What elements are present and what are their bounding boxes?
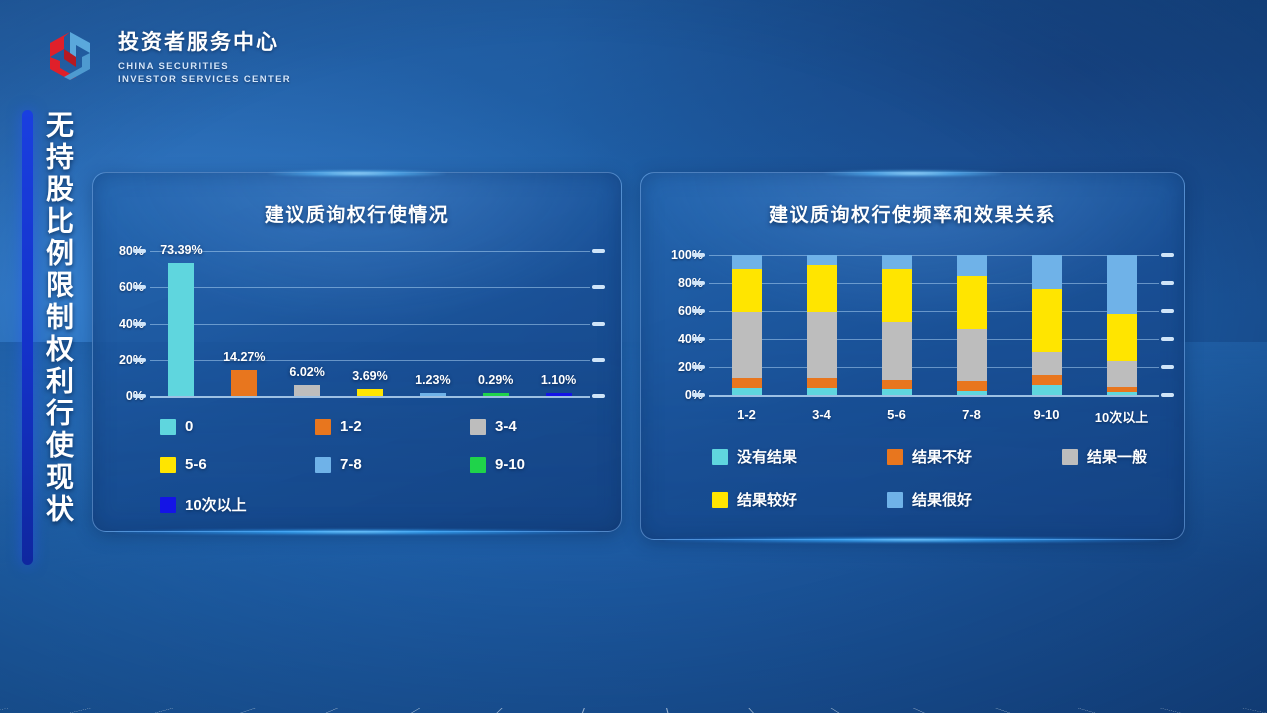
stacked-bar-segment	[1032, 289, 1062, 352]
gridline	[709, 283, 1159, 284]
left-chart-legend-item[interactable]: 5-6	[160, 456, 315, 473]
right-chart-legend-item[interactable]: 结果很好	[887, 489, 1062, 510]
panel-top-glow	[267, 170, 447, 177]
side-accent-bar	[22, 110, 33, 565]
brand-en-line-1: CHINA SECURITIES	[118, 60, 291, 73]
stacked-bar-segment	[1032, 375, 1062, 385]
left-chart-legend-item[interactable]: 1-2	[315, 418, 470, 435]
legend-item-label: 0	[185, 418, 193, 435]
chart-title-right: 建议质询权行使频率和效果关系	[641, 200, 1184, 227]
stacked-bar-segment	[882, 255, 912, 269]
left-chart-legend-item[interactable]: 9-10	[470, 456, 625, 473]
stacked-bar-segment	[882, 322, 912, 379]
chart-legend-right: 没有结果结果不好结果一般结果较好结果很好	[712, 446, 1237, 510]
gridline	[709, 339, 1159, 340]
stacked-bar-segment	[807, 312, 837, 378]
legend-color-swatch-icon	[470, 419, 486, 435]
legend-color-swatch-icon	[160, 419, 176, 435]
x-axis-tick-label: 9-10	[1033, 407, 1059, 422]
bar	[546, 393, 572, 397]
gridline	[150, 287, 590, 288]
legend-item-label: 结果很好	[912, 489, 972, 510]
stacked-bar-segment	[957, 329, 987, 381]
legend-color-swatch-icon	[160, 457, 176, 473]
right-chart-legend-item[interactable]: 结果较好	[712, 489, 887, 510]
bar	[483, 393, 509, 397]
legend-item-label: 10次以上	[185, 494, 247, 515]
stacked-bar-segment	[1107, 361, 1137, 386]
panel-bottom-glow	[114, 529, 600, 535]
bar	[168, 263, 194, 396]
y-axis-tick-mark-right	[1161, 337, 1174, 341]
x-axis-tick-label: 10次以上	[1095, 407, 1148, 426]
y-axis-tick-mark	[692, 365, 705, 369]
chart-legend-left: 01-23-45-67-89-1010次以上	[160, 418, 625, 515]
y-axis-tick-mark	[692, 253, 705, 257]
stacked-bar-segment	[882, 389, 912, 395]
stacked-bar-segment	[1107, 314, 1137, 362]
left-chart-legend-item[interactable]: 7-8	[315, 456, 470, 473]
left-chart-legend-item[interactable]: 10次以上	[160, 494, 315, 515]
brand-header: 投资者服务中心 CHINA SECURITIES INVESTOR SERVIC…	[40, 26, 291, 86]
stacked-bar-segment	[957, 381, 987, 391]
gridline	[150, 324, 590, 325]
brand-name-cn: 投资者服务中心	[118, 26, 291, 56]
y-axis-tick-mark	[133, 322, 146, 326]
stacked-bar-segment	[957, 255, 987, 276]
x-axis-tick-label: 3-4	[812, 407, 831, 422]
gridline	[150, 360, 590, 361]
y-axis-tick-mark-right	[1161, 281, 1174, 285]
legend-color-swatch-icon	[315, 457, 331, 473]
legend-item-label: 1-2	[340, 418, 362, 435]
stacked-bar-segment	[1032, 255, 1062, 289]
section-side-title: 无持股比例限制权利行使现状	[22, 110, 75, 570]
legend-color-swatch-icon	[712, 449, 728, 465]
stacked-bar-segment	[807, 255, 837, 265]
y-axis-tick-mark	[133, 285, 146, 289]
panel-top-glow	[823, 170, 1003, 177]
legend-item-label: 9-10	[495, 456, 525, 473]
y-axis-tick-mark-right	[592, 322, 605, 326]
stacked-bar-segment	[1107, 387, 1137, 393]
left-chart-legend-item[interactable]: 3-4	[470, 418, 625, 435]
chart-title-left: 建议质询权行使情况	[93, 200, 621, 227]
right-chart-legend-item[interactable]: 结果不好	[887, 446, 1062, 467]
y-axis-tick-mark	[692, 393, 705, 397]
bar	[231, 370, 257, 396]
stacked-bar-segment	[957, 276, 987, 329]
right-chart-legend-item[interactable]: 没有结果	[712, 446, 887, 467]
gridline	[709, 255, 1159, 256]
stacked-bar-segment	[732, 312, 762, 378]
y-axis-tick-mark	[692, 309, 705, 313]
right-chart-legend-item[interactable]: 结果一般	[1062, 446, 1237, 467]
legend-color-swatch-icon	[315, 419, 331, 435]
y-axis-tick-mark-right	[592, 394, 605, 398]
y-axis-tick-mark	[692, 337, 705, 341]
brand-name-en: CHINA SECURITIES INVESTOR SERVICES CENTE…	[118, 60, 291, 86]
stacked-bar-segment	[732, 378, 762, 388]
y-axis-tick-mark-right	[592, 358, 605, 362]
y-axis-tick-mark-right	[1161, 309, 1174, 313]
bar-value-label: 3.69%	[352, 369, 387, 383]
legend-color-swatch-icon	[887, 492, 903, 508]
stacked-bar-segment	[882, 269, 912, 322]
legend-color-swatch-icon	[470, 457, 486, 473]
bar	[420, 393, 446, 397]
stacked-bar-segment	[732, 269, 762, 312]
bar-value-label: 6.02%	[289, 365, 324, 379]
y-axis-tick-mark	[133, 394, 146, 398]
bar-value-label: 73.39%	[160, 243, 202, 257]
y-axis-tick-mark-right	[592, 285, 605, 289]
y-axis-tick-mark-right	[592, 249, 605, 253]
gridline	[150, 251, 590, 252]
x-axis-line	[709, 395, 1159, 397]
legend-color-swatch-icon	[1062, 449, 1078, 465]
x-axis-line	[150, 396, 590, 398]
stacked-bar-segment	[807, 388, 837, 395]
y-axis-tick-mark-right	[1161, 365, 1174, 369]
stacked-bar-segment	[1107, 392, 1137, 395]
stacked-bar-segment	[732, 255, 762, 269]
y-axis-tick-mark-right	[1161, 253, 1174, 257]
legend-item-label: 结果较好	[737, 489, 797, 510]
brand-en-line-2: INVESTOR SERVICES CENTER	[118, 73, 291, 86]
stacked-bar-segment	[732, 388, 762, 395]
y-axis-tick-mark	[133, 249, 146, 253]
bar-value-label: 1.23%	[415, 373, 450, 387]
legend-color-swatch-icon	[160, 497, 176, 513]
legend-item-label: 没有结果	[737, 446, 797, 467]
bar-value-label: 14.27%	[223, 350, 265, 364]
gridline	[709, 311, 1159, 312]
y-axis-tick-mark-right	[1161, 393, 1174, 397]
stacked-bar-segment	[1032, 385, 1062, 395]
panel-bottom-glow	[663, 537, 1163, 543]
brand-text-block: 投资者服务中心 CHINA SECURITIES INVESTOR SERVIC…	[118, 26, 291, 86]
bar-value-label: 1.10%	[541, 373, 576, 387]
legend-item-label: 7-8	[340, 456, 362, 473]
y-axis-tick-mark	[692, 281, 705, 285]
stacked-bar-segment	[1032, 352, 1062, 376]
csisc-logo-icon	[40, 27, 100, 85]
bar-value-label: 0.29%	[478, 373, 513, 387]
stacked-bar-segment	[807, 265, 837, 313]
stacked-bar-segment	[1107, 255, 1137, 314]
legend-color-swatch-icon	[712, 492, 728, 508]
x-axis-tick-label: 1-2	[737, 407, 756, 422]
y-axis-tick-mark	[133, 358, 146, 362]
legend-item-label: 结果一般	[1087, 446, 1147, 467]
stacked-bar-chart-right: 0%20%40%60%80%100%1-23-45-67-89-1010次以上	[709, 255, 1159, 395]
legend-item-label: 3-4	[495, 418, 517, 435]
legend-color-swatch-icon	[887, 449, 903, 465]
stacked-bar-segment	[807, 378, 837, 388]
bar-chart-left: 0%20%40%60%80%73.39%14.27%6.02%3.69%1.23…	[150, 251, 590, 396]
legend-item-label: 5-6	[185, 456, 207, 473]
bar	[357, 389, 383, 396]
bar	[294, 385, 320, 396]
section-title-vertical: 无持股比例限制权利行使现状	[42, 110, 75, 570]
x-axis-tick-label: 7-8	[962, 407, 981, 422]
left-chart-legend-item[interactable]: 0	[160, 418, 315, 435]
legend-item-label: 结果不好	[912, 446, 972, 467]
x-axis-tick-label: 5-6	[887, 407, 906, 422]
stacked-bar-segment	[957, 391, 987, 395]
gridline	[709, 367, 1159, 368]
stacked-bar-segment	[882, 380, 912, 390]
